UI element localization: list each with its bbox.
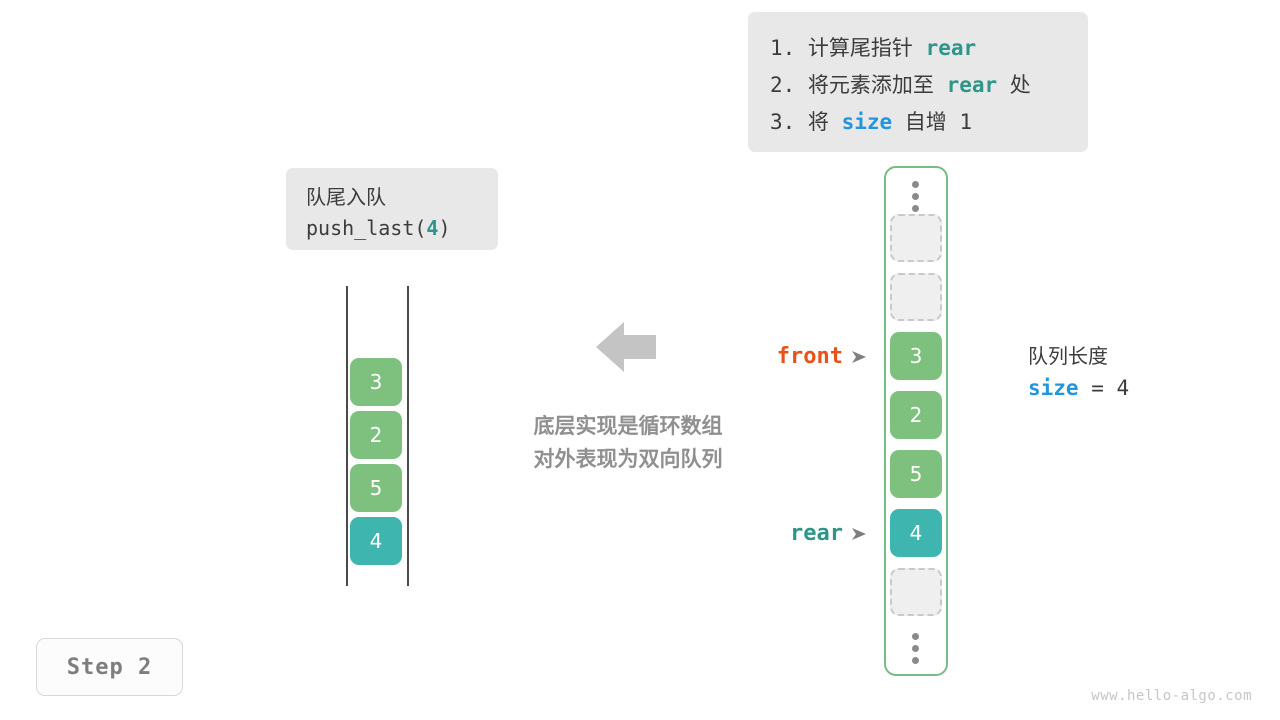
operation-title: 队尾入队	[306, 182, 478, 213]
keyword-size: size	[842, 110, 893, 134]
deque-cell: 4	[350, 517, 402, 565]
step-badge-label: Step 2	[67, 655, 152, 680]
size-caption-value: size = 4	[1028, 371, 1228, 405]
array-cell: 2	[890, 391, 942, 439]
step-line-3-suffix: 自增 1	[892, 110, 972, 134]
keyword-rear: rear	[947, 73, 998, 97]
vertical-ellipsis-icon	[912, 633, 919, 664]
pointer-arrow-icon	[852, 528, 866, 540]
array-cell-empty	[890, 214, 942, 262]
operation-call-argument: 4	[426, 216, 438, 240]
step-line-1: 1. 计算尾指针 rear	[770, 30, 1066, 67]
deque-cell: 2	[350, 411, 402, 459]
rear-pointer-text: rear	[790, 521, 843, 546]
deque-rail-left	[346, 286, 348, 586]
circular-array-visual: 3 2 5 4	[884, 166, 948, 676]
size-equals: =	[1079, 376, 1117, 400]
operation-signature: push_last(4)	[306, 213, 478, 244]
watermark: www.hello-algo.com	[1091, 688, 1252, 704]
steps-callout: 1. 计算尾指针 rear 2. 将元素添加至 rear 处 3. 将 size…	[748, 12, 1088, 152]
step-line-2: 2. 将元素添加至 rear 处	[770, 67, 1066, 104]
size-caption: 队列长度 size = 4	[1028, 341, 1228, 405]
operation-callout: 队尾入队 push_last(4)	[286, 168, 498, 250]
operation-call-prefix: push_last(	[306, 216, 426, 240]
size-variable: size	[1028, 376, 1079, 400]
rear-pointer-label: rear	[700, 521, 866, 546]
operation-call-suffix: )	[438, 216, 450, 240]
center-caption: 底层实现是循环数组 对外表现为双向队列	[498, 410, 758, 476]
size-caption-title: 队列长度	[1028, 341, 1228, 371]
front-pointer-text: front	[777, 344, 843, 369]
left-arrow-icon	[596, 320, 656, 374]
step-line-3: 3. 将 size 自增 1	[770, 104, 1066, 141]
front-pointer-label: front	[700, 344, 866, 369]
deque-visual: 3 2 5 4	[330, 280, 430, 600]
step-line-3-prefix: 3. 将	[770, 110, 842, 134]
keyword-rear: rear	[926, 36, 977, 60]
deque-cell: 5	[350, 464, 402, 512]
array-cell-empty	[890, 568, 942, 616]
array-cell-empty	[890, 273, 942, 321]
array-cell: 5	[890, 450, 942, 498]
step-badge: Step 2	[36, 638, 183, 696]
array-cell: 3	[890, 332, 942, 380]
pointer-arrow-icon	[852, 351, 866, 363]
vertical-ellipsis-icon	[912, 181, 919, 212]
step-line-2-prefix: 2. 将元素添加至	[770, 73, 947, 97]
step-line-1-prefix: 1. 计算尾指针	[770, 36, 926, 60]
step-line-2-suffix: 处	[997, 73, 1031, 97]
array-cell: 4	[890, 509, 942, 557]
deque-cell: 3	[350, 358, 402, 406]
size-number: 4	[1117, 376, 1130, 400]
center-caption-line-2: 对外表现为双向队列	[498, 443, 758, 476]
deque-rail-right	[407, 286, 409, 586]
center-caption-line-1: 底层实现是循环数组	[498, 410, 758, 443]
